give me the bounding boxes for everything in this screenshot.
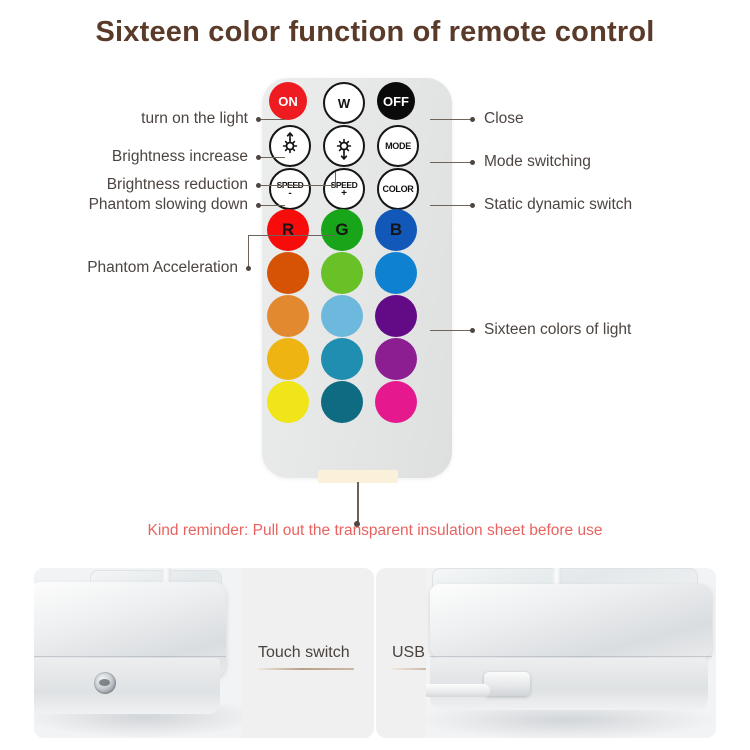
remote-button-magenta[interactable]: [375, 381, 417, 423]
brightness-reduction-icon: [331, 131, 357, 161]
callout-sixteen-colors-of-light: Sixteen colors of light: [484, 321, 631, 339]
leader-line-phantom-slowing-down: [261, 205, 285, 206]
remote-button-dark-teal[interactable]: [321, 381, 363, 423]
lamp-base-seam: [34, 656, 226, 657]
leader-line-phantom-acceleration-v2: [248, 235, 249, 268]
leader-line-turn-on-the-light: [261, 119, 285, 120]
leader-dot-static-dynamic-switch: [470, 203, 475, 208]
leader-line-sixteen-colors-of-light: [430, 330, 472, 331]
leader-line-static-dynamic-switch: [430, 205, 472, 206]
remote-button-speed-minus[interactable]: SPEED-: [269, 168, 311, 210]
leader-line-phantom-acceleration-h: [248, 235, 336, 236]
remote-button-w[interactable]: W: [323, 82, 365, 124]
panel-label-touch-switch: Touch switch: [258, 644, 350, 662]
usb-lamp-base-body: [430, 584, 712, 660]
callout-brightness-reduction: Brightness reduction: [107, 176, 248, 194]
remote-button-orange[interactable]: [267, 295, 309, 337]
remote-button-light-green[interactable]: [321, 252, 363, 294]
remote-button-bright-up[interactable]: [269, 125, 311, 167]
remote-button-deep-purple[interactable]: [375, 295, 417, 337]
remote-button-mode[interactable]: MODE: [377, 125, 419, 167]
callout-brightness-increase: Brightness increase: [112, 148, 248, 166]
leader-dot-sixteen-colors-of-light: [470, 328, 475, 333]
remote-button-green[interactable]: G: [321, 209, 363, 251]
remote-button-yellow[interactable]: [267, 381, 309, 423]
callout-close: Close: [484, 110, 524, 128]
remote-button-teal-blue[interactable]: [321, 338, 363, 380]
callout-phantom-acceleration: Phantom Acceleration: [87, 259, 238, 277]
remote-button-sky-blue[interactable]: [321, 295, 363, 337]
leader-line-brightness-reduction-h: [261, 185, 336, 186]
usb-cable: [426, 684, 490, 697]
panel-touch-switch: Touch switch: [34, 568, 374, 738]
panel-underline-touch-switch: [258, 668, 354, 670]
usb-lamp-seam: [430, 656, 712, 657]
remote-button-on[interactable]: ON: [269, 82, 307, 120]
leader-line-mode-switching: [430, 162, 472, 163]
leader-dot-phantom-acceleration: [246, 266, 251, 271]
remote-button-bright-down[interactable]: [323, 125, 365, 167]
remote-button-azure-blue[interactable]: [375, 252, 417, 294]
remote-button-dark-orange[interactable]: [267, 252, 309, 294]
speed-label-group: SPEED-: [277, 181, 304, 197]
remote-button-speed-plus[interactable]: SPEED+: [323, 168, 365, 210]
insulation-leader-line: [357, 482, 359, 524]
callout-mode-switching: Mode switching: [484, 153, 591, 171]
remote-button-blue[interactable]: B: [375, 209, 417, 251]
page-root: Sixteen color function of remote control…: [0, 0, 750, 750]
usb-charging-port-photo: [426, 568, 716, 738]
leader-line-brightness-increase: [261, 157, 285, 158]
callout-static-dynamic-switch: Static dynamic switch: [484, 196, 632, 214]
leader-line-close: [430, 119, 472, 120]
leader-line-phantom-acceleration-v1: [335, 221, 336, 236]
leader-line-brightness-reduction-v: [335, 172, 336, 186]
callout-turn-on-the-light: turn on the light: [141, 110, 248, 128]
remote-button-off[interactable]: OFF: [377, 82, 415, 120]
remote-button-golden-yellow[interactable]: [267, 338, 309, 380]
remote-button-red[interactable]: R: [267, 209, 309, 251]
usb-plug: [484, 672, 530, 696]
leader-dot-mode-switching: [470, 160, 475, 165]
touch-switch-button[interactable]: [94, 672, 116, 694]
callout-phantom-slowing-down: Phantom slowing down: [89, 196, 248, 214]
leader-dot-close: [470, 117, 475, 122]
kind-reminder-text: Kind reminder: Pull out the transparent …: [0, 522, 750, 540]
remote-button-color[interactable]: COLOR: [377, 168, 419, 210]
page-title: Sixteen color function of remote control: [0, 16, 750, 49]
remote-button-purple[interactable]: [375, 338, 417, 380]
panel-usb-charging-port: USB charging port: [376, 568, 716, 738]
lamp-base-skirt: [34, 658, 220, 714]
touch-switch-photo: [34, 568, 242, 738]
